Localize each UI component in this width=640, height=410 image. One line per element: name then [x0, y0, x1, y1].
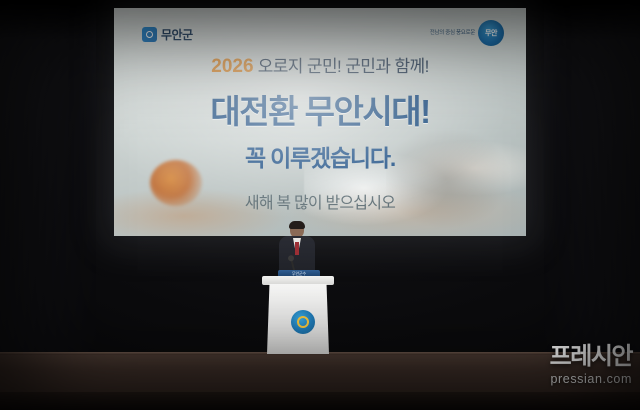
muan-county-emblem-icon	[291, 310, 315, 334]
podium-body	[267, 284, 329, 354]
speaker-hair	[289, 221, 305, 229]
slide-headline-line-2: 대전환 무안시대!	[114, 85, 526, 133]
slide-headline-year: 2026	[211, 56, 253, 77]
watermark: 프레시안 pressian.com	[550, 336, 632, 386]
slide-brand-right-caption: 전남의 중심 풍요로운	[430, 30, 475, 37]
wall-panel-left	[0, 0, 96, 352]
photo-canvas: 무안군 전남의 중심 풍요로운 무안 2026 오로지 군민! 군민과 함께! …	[0, 0, 640, 410]
slide-brand-left-label: 무안군	[161, 26, 193, 43]
slide-brand-right: 전남의 중심 풍요로운 무안	[430, 20, 504, 46]
podium-top	[262, 276, 334, 285]
slide-headline-block: 2026 오로지 군민! 군민과 함께! 대전환 무안시대! 꼭 이루겠습니다.…	[114, 52, 526, 213]
muan-county-circle-logo-icon	[142, 27, 157, 42]
caption-overlay-row: 로지 군민! 군민과 함께	[0, 352, 640, 410]
slide-headline-line-1: 2026 오로지 군민! 군민과 함께!	[114, 52, 526, 78]
podium: 무안군수	[262, 276, 334, 354]
speaker-tie	[295, 242, 299, 255]
slide-brand-left: 무안군	[142, 26, 193, 43]
wall-panel-right	[544, 0, 640, 352]
slide-headline-line-1-rest: 오로지 군민! 군민과 함께!	[258, 57, 429, 76]
projection-screen: 무안군 전남의 중심 풍요로운 무안 2026 오로지 군민! 군민과 함께! …	[114, 8, 526, 236]
slide-headline-line-3: 꼭 이루겠습니다.	[114, 139, 526, 173]
slide-brand-right-emblem: 무안	[478, 20, 504, 46]
slide-headline-line-4: 새해 복 많이 받으십시오	[114, 189, 526, 213]
watermark-domain: pressian.com	[550, 372, 632, 386]
watermark-logo-text: 프레시안	[550, 336, 632, 371]
